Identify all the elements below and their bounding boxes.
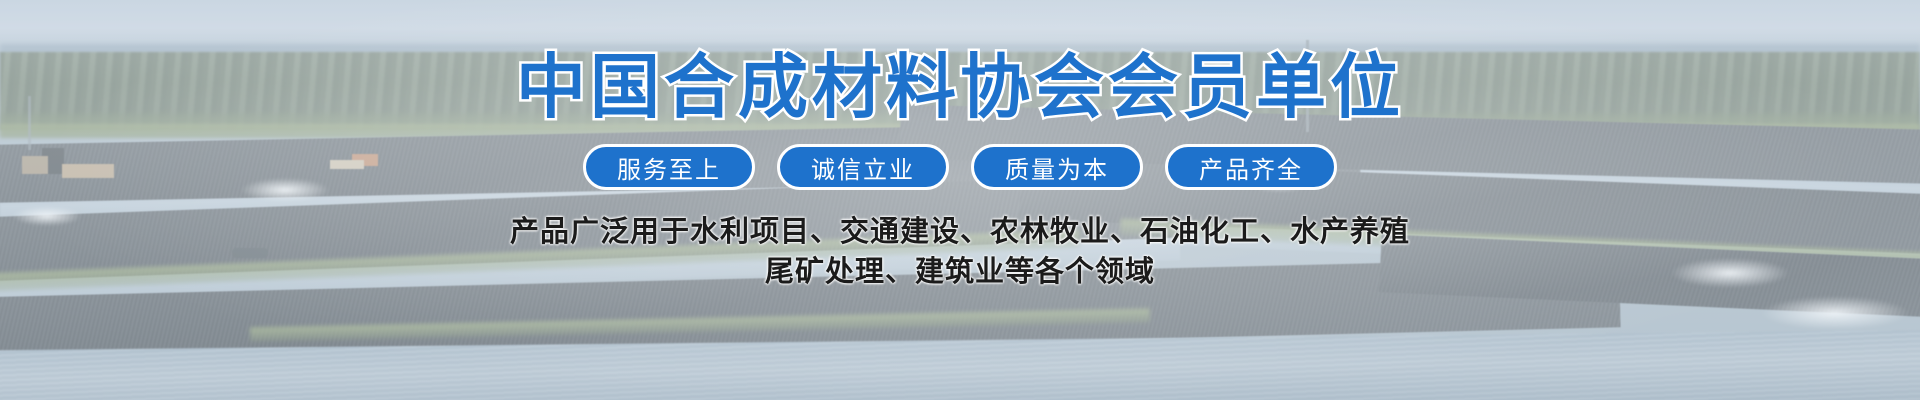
- description-line-2: 尾矿处理、建筑业等各个领域: [510, 252, 1410, 292]
- slogan-pill-products[interactable]: 产品齐全: [1165, 144, 1337, 190]
- banner-description: 产品广泛用于水利项目、交通建设、农林牧业、石油化工、水产养殖 尾矿处理、建筑业等…: [510, 212, 1410, 292]
- banner-content: 中国合成材料协会会员单位 服务至上 诚信立业 质量为本 产品齐全 产品广泛用于水…: [0, 0, 1920, 400]
- slogan-pill-quality[interactable]: 质量为本: [971, 144, 1143, 190]
- slogan-pill-service[interactable]: 服务至上: [583, 144, 755, 190]
- slogan-pill-integrity[interactable]: 诚信立业: [777, 144, 949, 190]
- banner-headline: 中国合成材料协会会员单位: [516, 52, 1404, 122]
- slogan-pill-row: 服务至上 诚信立业 质量为本 产品齐全: [583, 144, 1337, 190]
- description-line-1: 产品广泛用于水利项目、交通建设、农林牧业、石油化工、水产养殖: [510, 212, 1410, 252]
- promo-banner: 中国合成材料协会会员单位 服务至上 诚信立业 质量为本 产品齐全 产品广泛用于水…: [0, 0, 1920, 400]
